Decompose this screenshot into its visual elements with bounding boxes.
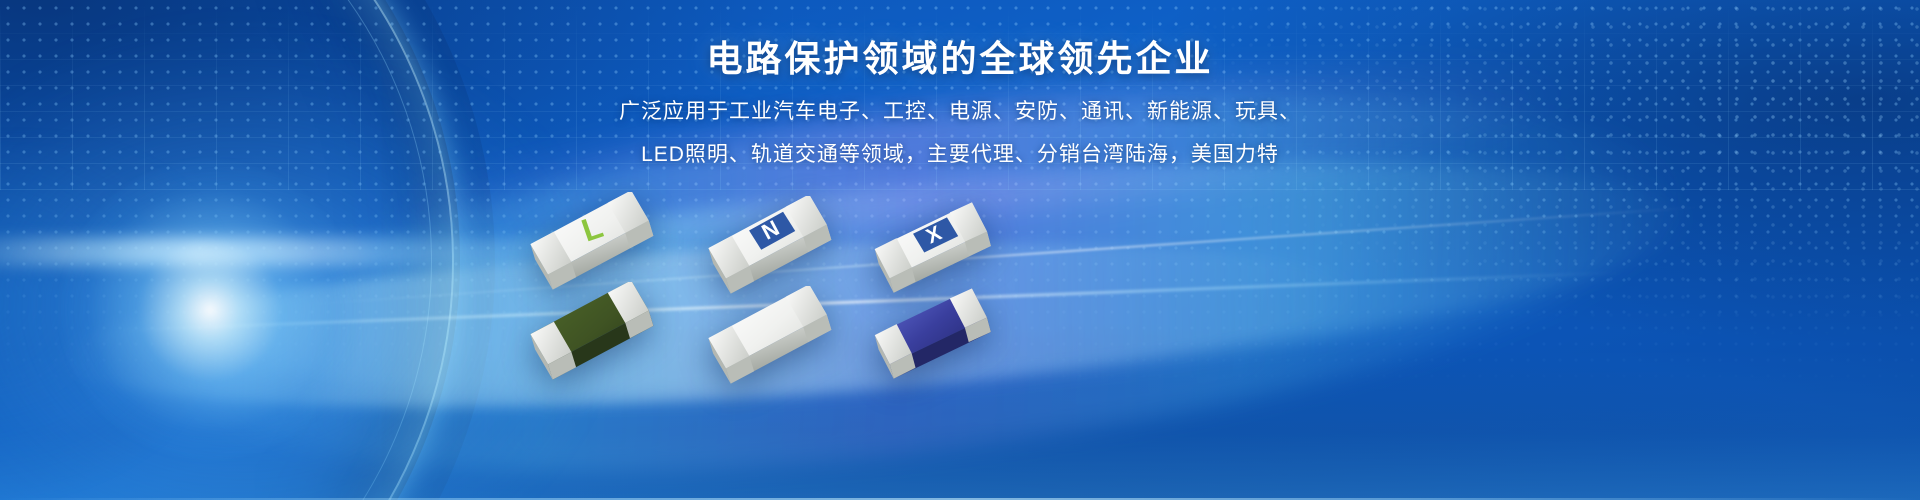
product-chip-plain[interactable] (706, 286, 836, 396)
banner-text-block: 电路保护领域的全球领先企业 广泛应用于工业汽车电子、工控、电源、安防、通讯、新能… (0, 36, 1920, 165)
banner-subtitle-line-1: 广泛应用于工业汽车电子、工控、电源、安防、通讯、新能源、玩具、 (0, 101, 1920, 122)
banner-headline: 电路保护领域的全球领先企业 (0, 36, 1920, 81)
hero-banner: 电路保护领域的全球领先企业 广泛应用于工业汽车电子、工控、电源、安防、通讯、新能… (0, 0, 1920, 500)
product-chip-blue[interactable] (872, 288, 996, 392)
product-chip-dark-green[interactable] (528, 282, 658, 392)
banner-subtitle-line-2: LED照明、轨道交通等领域，主要代理、分销台湾陆海，美国力特 (0, 144, 1920, 165)
